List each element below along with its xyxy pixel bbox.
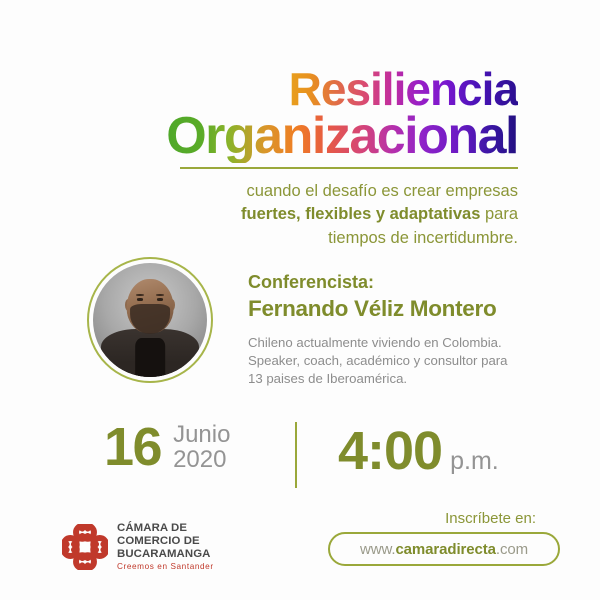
registration-link-button[interactable]: www.camaradirecta.com [328, 532, 560, 566]
speaker-avatar [87, 257, 213, 383]
title-underline [180, 167, 518, 169]
event-date: 16 Junio 2020 [104, 420, 230, 474]
speaker-role-label: Conferencista: [248, 271, 548, 294]
subtitle-line-2: fuertes, flexibles y adaptativas para [0, 203, 518, 226]
chamber-emblem-icon [62, 524, 108, 570]
event-datetime: 16 Junio 2020 4:00 p.m. [0, 418, 600, 494]
event-month-year: Junio 2020 [173, 422, 230, 472]
title-line-organizacional: Organizacional [166, 110, 518, 163]
portrait-eye-right [157, 298, 163, 301]
chamber-logo-line-2: COMERCIO DE [117, 535, 214, 548]
event-year: 2020 [173, 447, 230, 472]
event-time-value: 4:00 [338, 424, 442, 478]
promotional-poster: Resiliencia Organizacional cuando el des… [0, 0, 600, 600]
speaker-bio-line-2: Speaker, coach, académico y consultor pa… [248, 352, 548, 370]
speaker-details: Conferencista: Fernando Véliz Montero Ch… [248, 271, 548, 388]
event-day: 16 [104, 420, 161, 474]
portrait-shirt [135, 338, 165, 377]
event-month: Junio [173, 422, 230, 447]
chamber-logo-text: CÁMARA DE COMERCIO DE BUCARAMANGA Creemo… [117, 522, 214, 571]
datetime-divider [295, 422, 297, 488]
speaker-bio: Chileno actualmente viviendo en Colombia… [248, 334, 548, 389]
speaker-name: Fernando Véliz Montero [248, 295, 548, 323]
event-time: 4:00 p.m. [338, 424, 499, 478]
url-suffix: .com [496, 541, 528, 558]
title-line-resiliencia: Resiliencia [289, 66, 518, 112]
chamber-logo-tagline: Creemos en Santander [117, 562, 214, 571]
cta-label: Inscríbete en: [445, 510, 536, 527]
event-time-meridiem: p.m. [450, 447, 499, 476]
url-prefix: www. [360, 541, 395, 558]
subtitle-emphasis: fuertes, flexibles y adaptativas [241, 205, 480, 223]
registration-url: www.camaradirecta.com [360, 541, 528, 558]
subtitle-line-3: tiempos de incertidumbre. [0, 227, 518, 250]
title-block: Resiliencia Organizacional [0, 66, 600, 169]
subtitle-line-1: cuando el desafío es crear empresas [0, 180, 518, 203]
chamber-logo: CÁMARA DE COMERCIO DE BUCARAMANGA Creemo… [62, 522, 214, 571]
subtitle-line-2-tail: para [480, 205, 518, 223]
url-domain: camaradirecta [395, 541, 495, 558]
speaker-photo [93, 263, 207, 377]
speaker-bio-line-1: Chileno actualmente viviendo en Colombia… [248, 334, 548, 352]
speaker-bio-line-3: 13 paises de Iberoamérica. [248, 370, 548, 388]
chamber-logo-line-3: BUCARAMANGA [117, 548, 214, 561]
subtitle-block: cuando el desafío es crear empresas fuer… [0, 180, 600, 250]
chamber-logo-line-1: CÁMARA DE [117, 522, 214, 535]
